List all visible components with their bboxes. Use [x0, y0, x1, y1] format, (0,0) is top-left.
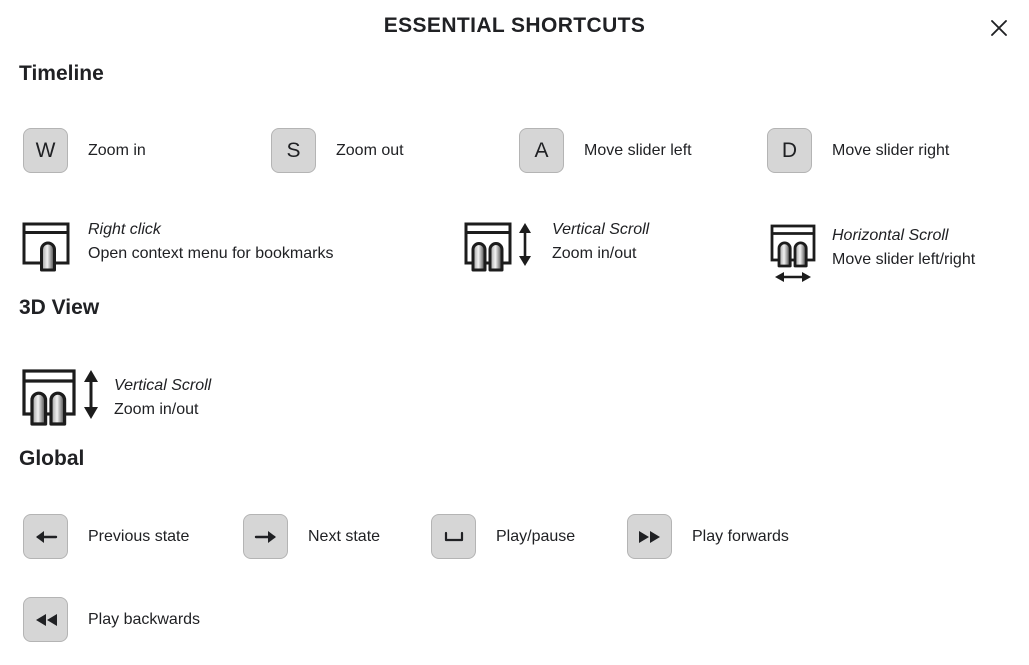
shortcut-play-pause[interactable]: Play/pause	[431, 514, 575, 559]
section-timeline: Timeline	[0, 62, 104, 86]
mouse-action-label: Horizontal Scroll	[832, 224, 975, 248]
keycap-label: S	[286, 139, 300, 163]
shortcut-move-slider-right[interactable]: D Move slider right	[767, 128, 949, 173]
keycap-fast-forward[interactable]	[627, 514, 672, 559]
shortcut-label-previous-state: Previous state	[88, 528, 189, 546]
mouse-vertical-scroll-icon	[20, 366, 110, 428]
arrow-right-icon	[253, 527, 279, 547]
section-title-timeline: Timeline	[19, 62, 104, 86]
shortcut-right-click[interactable]: Right click Open context menu for bookma…	[20, 218, 333, 274]
section-title-global: Global	[19, 447, 84, 471]
shortcut-label-zoom-in: Zoom in	[88, 142, 146, 160]
mouse-desc-label: Zoom in/out	[114, 398, 211, 422]
close-button[interactable]	[983, 12, 1015, 44]
dialog-header: ESSENTIAL SHORTCUTS	[0, 0, 1029, 56]
keycap-label: A	[534, 139, 548, 163]
shortcut-label-play-backwards: Play backwards	[88, 611, 200, 629]
mouse-horizontal-scroll-icon	[768, 222, 820, 292]
mouse-text: Vertical Scroll Zoom in/out	[114, 374, 211, 421]
keycap-arrow-left[interactable]	[23, 514, 68, 559]
keycap-w[interactable]: W	[23, 128, 68, 173]
mouse-desc-label: Move slider left/right	[832, 248, 975, 272]
spacebar-icon	[441, 529, 467, 545]
mouse-action-label: Vertical Scroll	[114, 374, 211, 398]
vertical-arrow-icon	[84, 370, 98, 419]
keycap-label: W	[36, 139, 56, 163]
section-global: Global	[0, 447, 84, 471]
shortcut-label-play-pause: Play/pause	[496, 528, 575, 546]
shortcut-play-forwards[interactable]: Play forwards	[627, 514, 789, 559]
section-title-3d-view: 3D View	[19, 296, 99, 320]
keycap-arrow-right[interactable]	[243, 514, 288, 559]
mouse-text: Vertical Scroll Zoom in/out	[552, 218, 649, 265]
mouse-right-click-icon	[20, 218, 76, 274]
arrow-left-icon	[33, 527, 59, 547]
shortcut-vertical-scroll-timeline[interactable]: Vertical Scroll Zoom in/out	[462, 218, 649, 274]
mouse-desc-label: Zoom in/out	[552, 242, 649, 266]
section-3d-view: 3D View	[0, 296, 99, 320]
vertical-arrow-icon	[519, 223, 531, 266]
keycap-d[interactable]: D	[767, 128, 812, 173]
close-icon	[989, 18, 1009, 38]
keycap-rewind[interactable]	[23, 597, 68, 642]
shortcut-zoom-in[interactable]: W Zoom in	[23, 128, 146, 173]
shortcut-label-move-slider-left: Move slider left	[584, 142, 692, 160]
shortcut-play-backwards[interactable]: Play backwards	[23, 597, 200, 642]
mouse-action-label: Right click	[88, 218, 333, 242]
page-title: ESSENTIAL SHORTCUTS	[0, 14, 1029, 38]
mouse-text: Right click Open context menu for bookma…	[88, 218, 333, 265]
keycap-spacebar[interactable]	[431, 514, 476, 559]
keycap-s[interactable]: S	[271, 128, 316, 173]
shortcut-vertical-scroll-3dview[interactable]: Vertical Scroll Zoom in/out	[20, 366, 211, 428]
shortcut-previous-state[interactable]: Previous state	[23, 514, 189, 559]
mouse-text: Horizontal Scroll Move slider left/right	[832, 224, 975, 271]
horizontal-arrow-icon	[775, 272, 811, 282]
shortcut-move-slider-left[interactable]: A Move slider left	[519, 128, 692, 173]
rewind-icon	[32, 611, 60, 629]
shortcut-label-move-slider-right: Move slider right	[832, 142, 949, 160]
shortcut-label-play-forwards: Play forwards	[692, 528, 789, 546]
mouse-desc-label: Open context menu for bookmarks	[88, 242, 333, 266]
keycap-a[interactable]: A	[519, 128, 564, 173]
keycap-label: D	[782, 139, 797, 163]
shortcut-horizontal-scroll-timeline[interactable]: Horizontal Scroll Move slider left/right	[768, 222, 975, 292]
mouse-vertical-scroll-icon	[462, 218, 540, 274]
mouse-action-label: Vertical Scroll	[552, 218, 649, 242]
shortcut-next-state[interactable]: Next state	[243, 514, 380, 559]
shortcut-label-zoom-out: Zoom out	[336, 142, 404, 160]
shortcut-zoom-out[interactable]: S Zoom out	[271, 128, 404, 173]
shortcut-label-next-state: Next state	[308, 528, 380, 546]
fast-forward-icon	[636, 528, 664, 546]
